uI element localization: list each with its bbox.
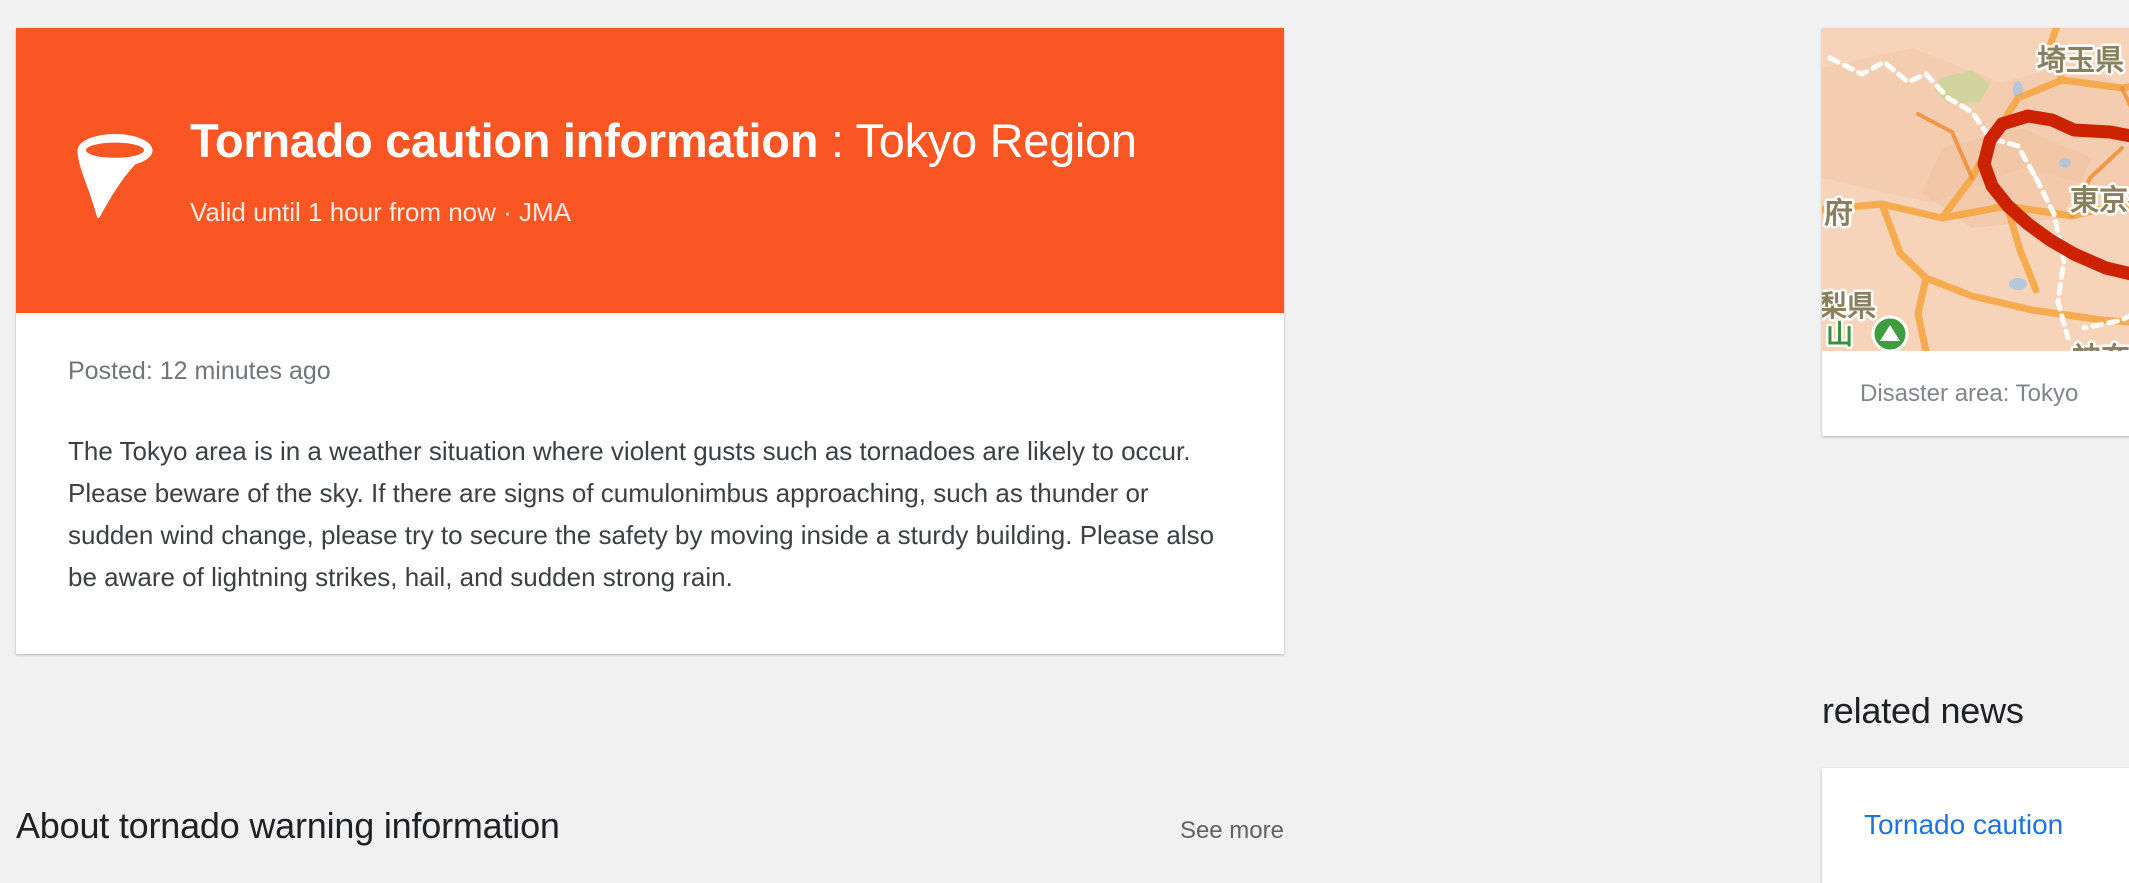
about-section-row: About tornado warning information See mo… bbox=[16, 805, 1284, 847]
about-section-title: About tornado warning information bbox=[16, 805, 560, 847]
alert-description: The Tokyo area is in a weather situation… bbox=[68, 430, 1232, 598]
related-news-item-title[interactable]: Tornado caution bbox=[1864, 806, 2129, 844]
disaster-map-card: 埼玉県 東京都 府 梨県 神奈川 山 Disas bbox=[1822, 28, 2129, 436]
main-column: Tornado caution information : Tokyo Regi… bbox=[16, 0, 1790, 883]
right-column: 埼玉県 東京都 府 梨県 神奈川 山 Disas bbox=[1822, 0, 2129, 883]
alert-subtitle: Valid until 1 hour from now · JMA bbox=[190, 196, 1284, 230]
see-more-link[interactable]: See more bbox=[1180, 817, 1284, 845]
svg-text:東京都: 東京都 bbox=[2070, 183, 2129, 217]
tornado-alert-card: Tornado caution information : Tokyo Regi… bbox=[16, 28, 1284, 654]
alert-body: Posted: 12 minutes ago The Tokyo area is… bbox=[16, 313, 1284, 654]
related-news-heading: related news bbox=[1822, 690, 2024, 732]
alert-title-main: Tornado caution information bbox=[190, 114, 818, 167]
disaster-map[interactable]: 埼玉県 東京都 府 梨県 神奈川 山 bbox=[1822, 28, 2129, 351]
svg-text:府: 府 bbox=[1824, 196, 1853, 230]
svg-text:神奈川: 神奈川 bbox=[2072, 341, 2129, 351]
svg-text:梨県: 梨県 bbox=[1822, 289, 1876, 323]
alert-header-text: Tornado caution information : Tokyo Regi… bbox=[190, 111, 1284, 229]
page-root: Tornado caution information : Tokyo Regi… bbox=[0, 0, 2129, 883]
alert-title-separator: : bbox=[818, 114, 855, 167]
related-news-card[interactable]: Tornado caution bbox=[1822, 768, 2129, 883]
alert-title: Tornado caution information : Tokyo Regi… bbox=[190, 115, 1284, 168]
posted-timestamp: Posted: 12 minutes ago bbox=[68, 355, 1232, 388]
svg-text:山: 山 bbox=[1826, 320, 1853, 351]
alert-header: Tornado caution information : Tokyo Regi… bbox=[16, 28, 1284, 313]
alert-title-region: Tokyo Region bbox=[856, 114, 1137, 167]
svg-text:埼玉県: 埼玉県 bbox=[2037, 43, 2124, 77]
map-caption: Disaster area: Tokyo bbox=[1822, 351, 2129, 436]
tornado-icon bbox=[68, 116, 154, 220]
